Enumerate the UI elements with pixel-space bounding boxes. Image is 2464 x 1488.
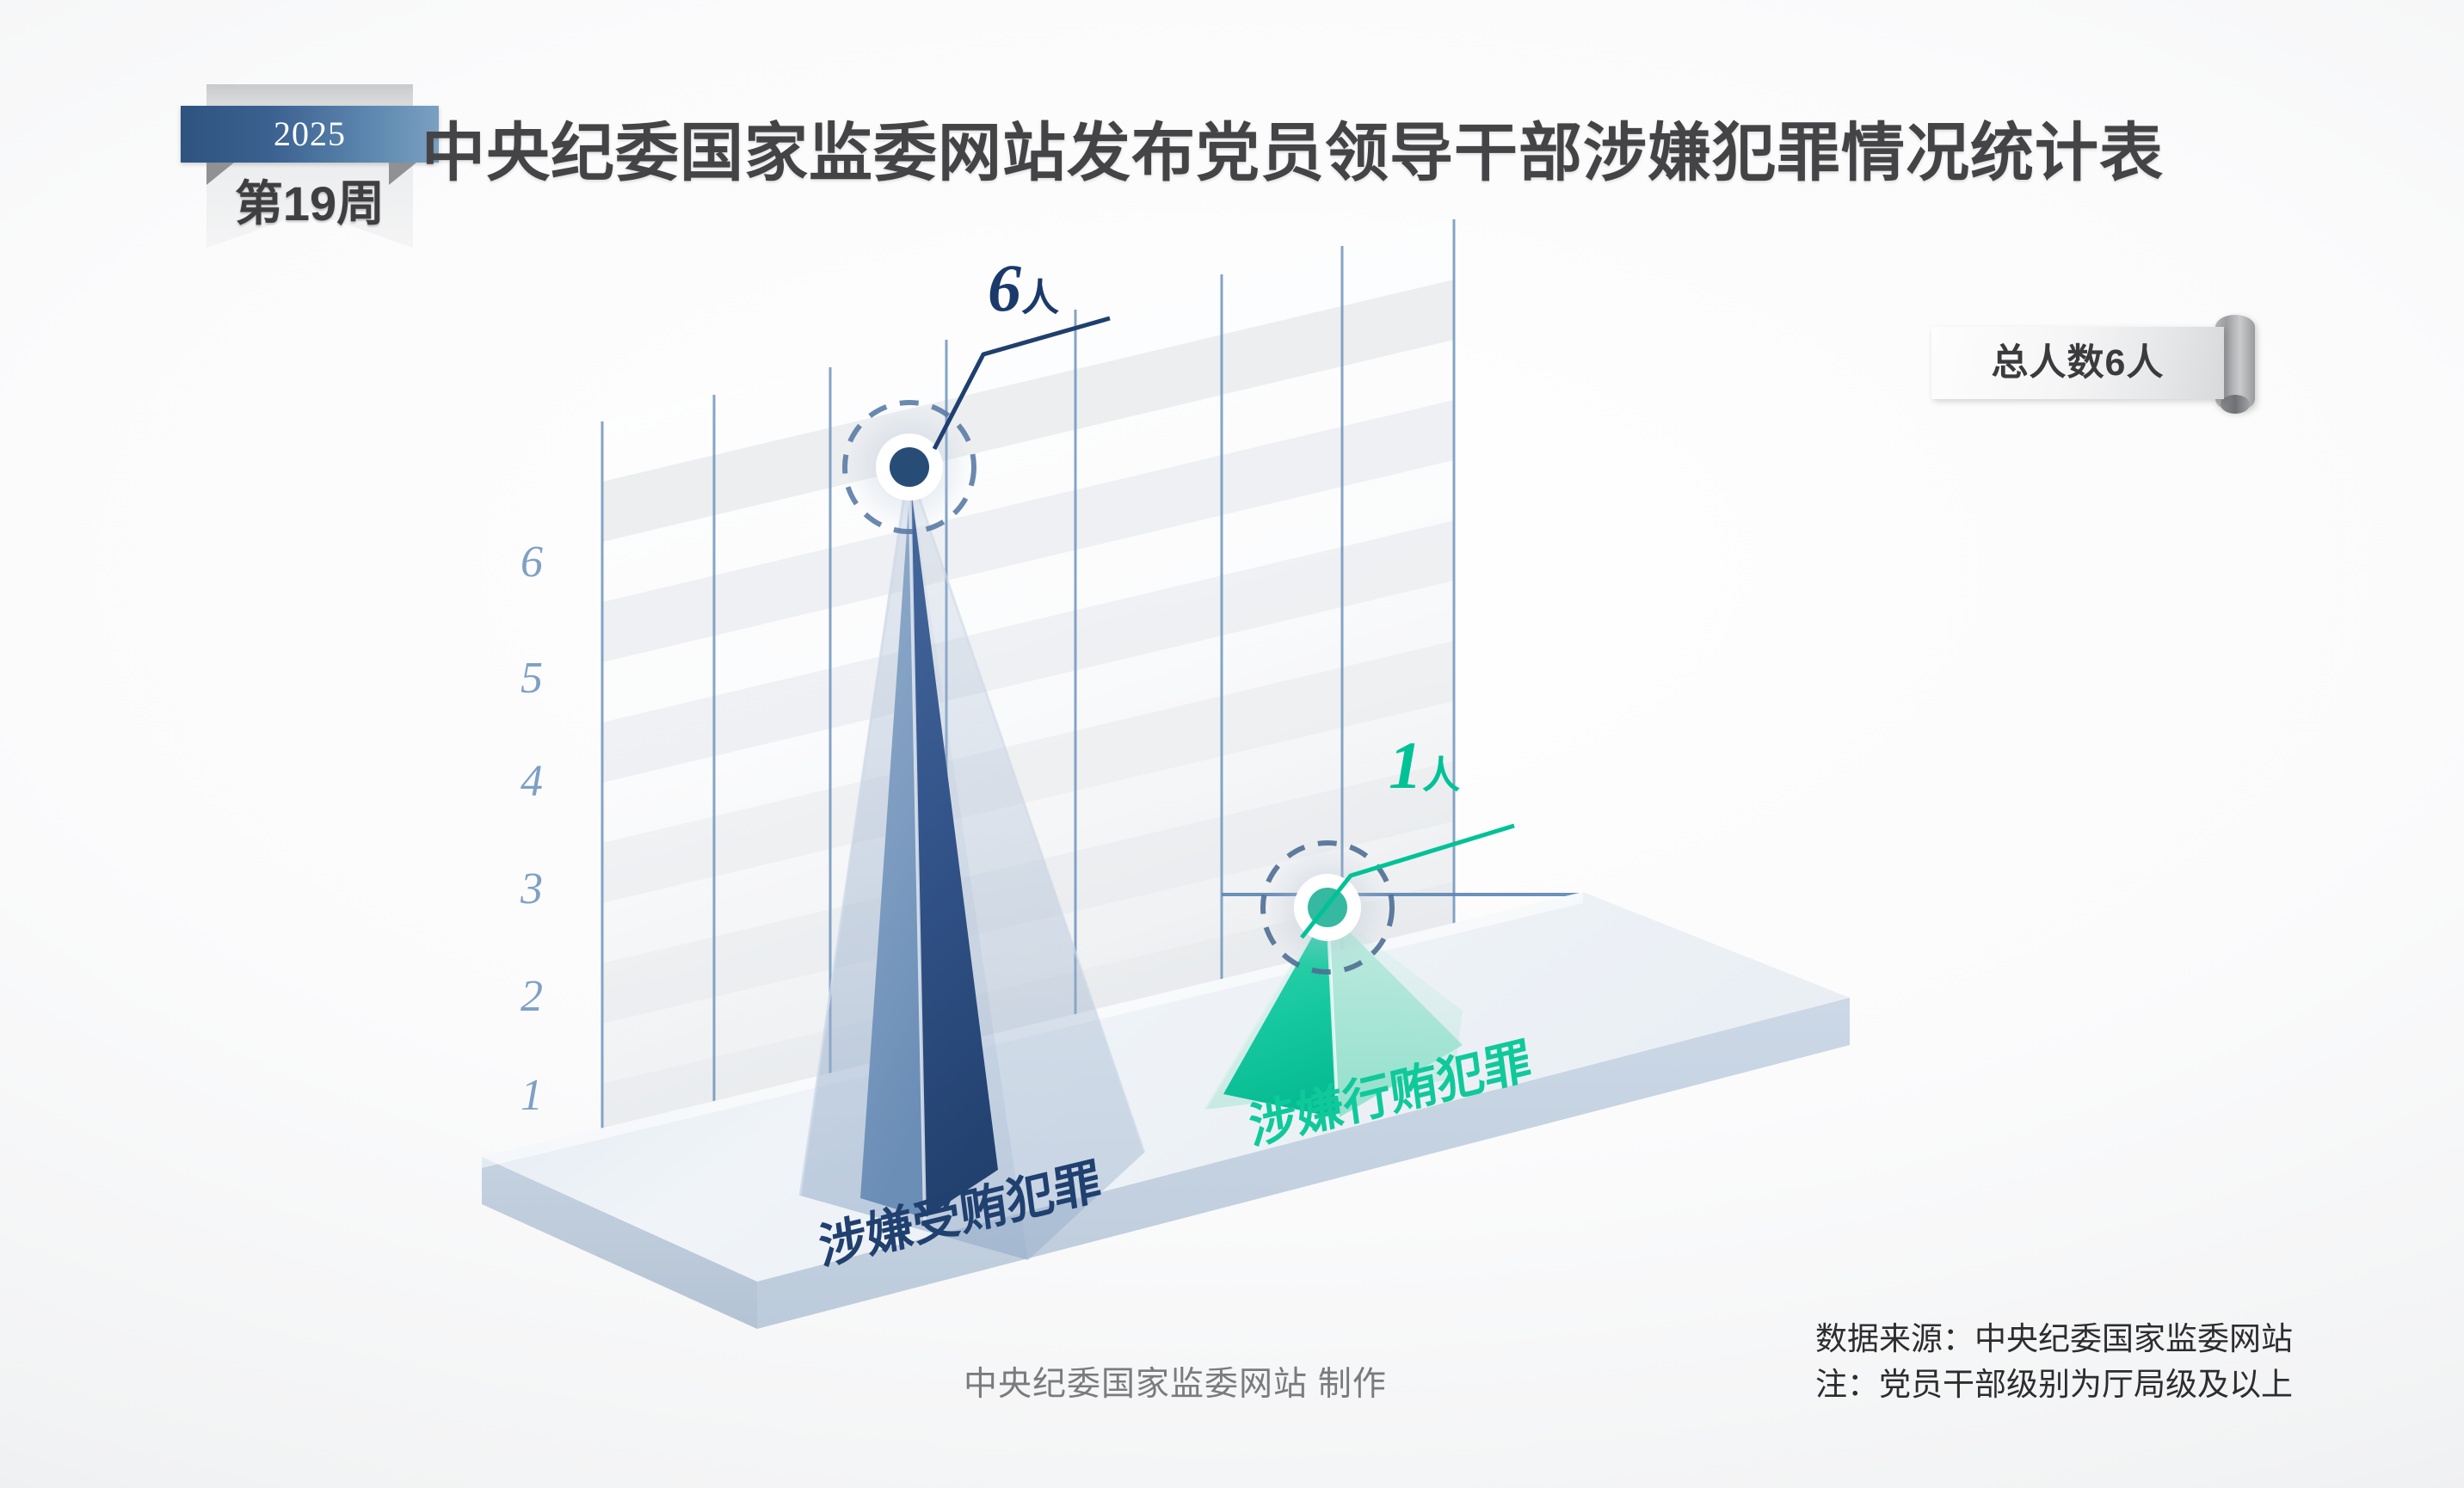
y-axis-ticks: 6 5 4 3 2 1 <box>520 538 543 1120</box>
y-tick-6: 6 <box>521 538 543 587</box>
callout-1-value: 1 <box>1389 728 1422 802</box>
y-tick-1: 1 <box>521 1071 543 1120</box>
infographic-canvas: 涉嫌受贿犯罪 涉嫌行贿犯罪 6 5 4 3 2 1 第19周 2025 中央纪委… <box>0 0 2464 1488</box>
badge-year-label: 2025 <box>181 106 439 163</box>
total-count-label: 总人数6人 <box>1931 327 2224 399</box>
data-callout-1: 1人 <box>1389 727 1460 804</box>
total-count-banner: 总人数6人 <box>1931 311 2276 415</box>
maker-credit: 中央纪委国家监委网站 制作 <box>964 1357 1387 1405</box>
y-tick-3: 3 <box>520 864 543 913</box>
callout-0-unit: 人 <box>1021 277 1059 319</box>
page-title: 中央纪委国家监委网站发布党员领导干部涉嫌犯罪情况统计表 <box>422 101 2164 194</box>
y-tick-2: 2 <box>521 972 543 1021</box>
y-tick-5: 5 <box>521 654 543 703</box>
callout-1-unit: 人 <box>1422 754 1460 796</box>
data-callout-0: 6人 <box>988 249 1059 327</box>
y-tick-4: 4 <box>521 757 543 806</box>
source-note: 数据来源：中央纪委国家监委网站 注：党员干部级别为厅局级及以上 <box>1815 1318 2293 1408</box>
badge-year-ribbon: 2025 <box>181 106 439 163</box>
source-line: 数据来源：中央纪委国家监委网站 <box>1815 1318 2293 1363</box>
total-count-paper: 总人数6人 <box>1931 327 2224 399</box>
callout-0-value: 6 <box>988 250 1021 325</box>
note-line: 注：党员干部级别为厅局级及以上 <box>1815 1363 2293 1409</box>
badge-week-label: 第19周 <box>206 170 413 237</box>
